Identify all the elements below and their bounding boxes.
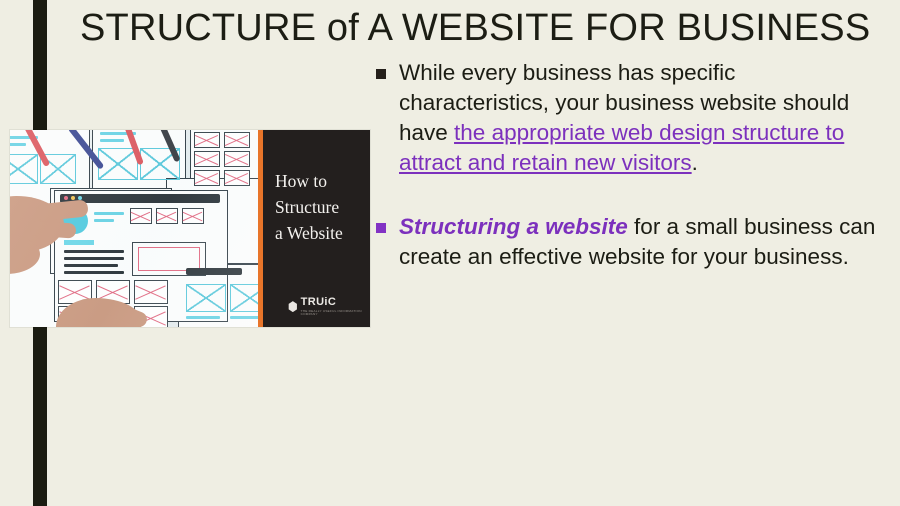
bullet-list: While every business has specific charac…: [376, 58, 876, 272]
illustration-card: How to Structure a Website TRUiC THE REA…: [10, 130, 370, 327]
caption-panel: How to Structure a Website TRUiC THE REA…: [263, 130, 370, 327]
slide-canvas: STRUCTURE of A WEBSITE FOR BUSINESS: [0, 0, 900, 506]
bullet-2-emphasis: Structuring a website: [399, 214, 628, 239]
wireframe-photo: [10, 130, 258, 327]
logo-wordmark: TRUiC: [301, 297, 370, 308]
bullet-1-segment-3: .: [692, 150, 698, 175]
caption-text: How to Structure a Website: [275, 168, 367, 246]
bullet-text: Structuring a website for a small busine…: [399, 212, 876, 272]
bullet-marker-icon: [376, 223, 386, 233]
truic-logo: TRUiC THE REALLY USEFUL INFORMATION COMP…: [288, 297, 370, 316]
caption-line-1: How to: [275, 168, 367, 194]
list-item: Structuring a website for a small busine…: [376, 212, 876, 272]
caption-line-3: a Website: [275, 220, 367, 246]
page-title: STRUCTURE of A WEBSITE FOR BUSINESS: [80, 4, 840, 52]
logo-tagline: THE REALLY USEFUL INFORMATION COMPANY: [301, 310, 370, 316]
list-item: While every business has specific charac…: [376, 58, 876, 178]
bullet-marker-icon: [376, 69, 386, 79]
hexagon-logo-icon: [288, 301, 298, 312]
caption-line-2: Structure: [275, 194, 367, 220]
web-design-structure-link[interactable]: the appropriate web design structure to …: [399, 120, 844, 175]
bullet-text: While every business has specific charac…: [399, 58, 876, 178]
logo-text-wrap: TRUiC THE REALLY USEFUL INFORMATION COMP…: [301, 297, 370, 316]
